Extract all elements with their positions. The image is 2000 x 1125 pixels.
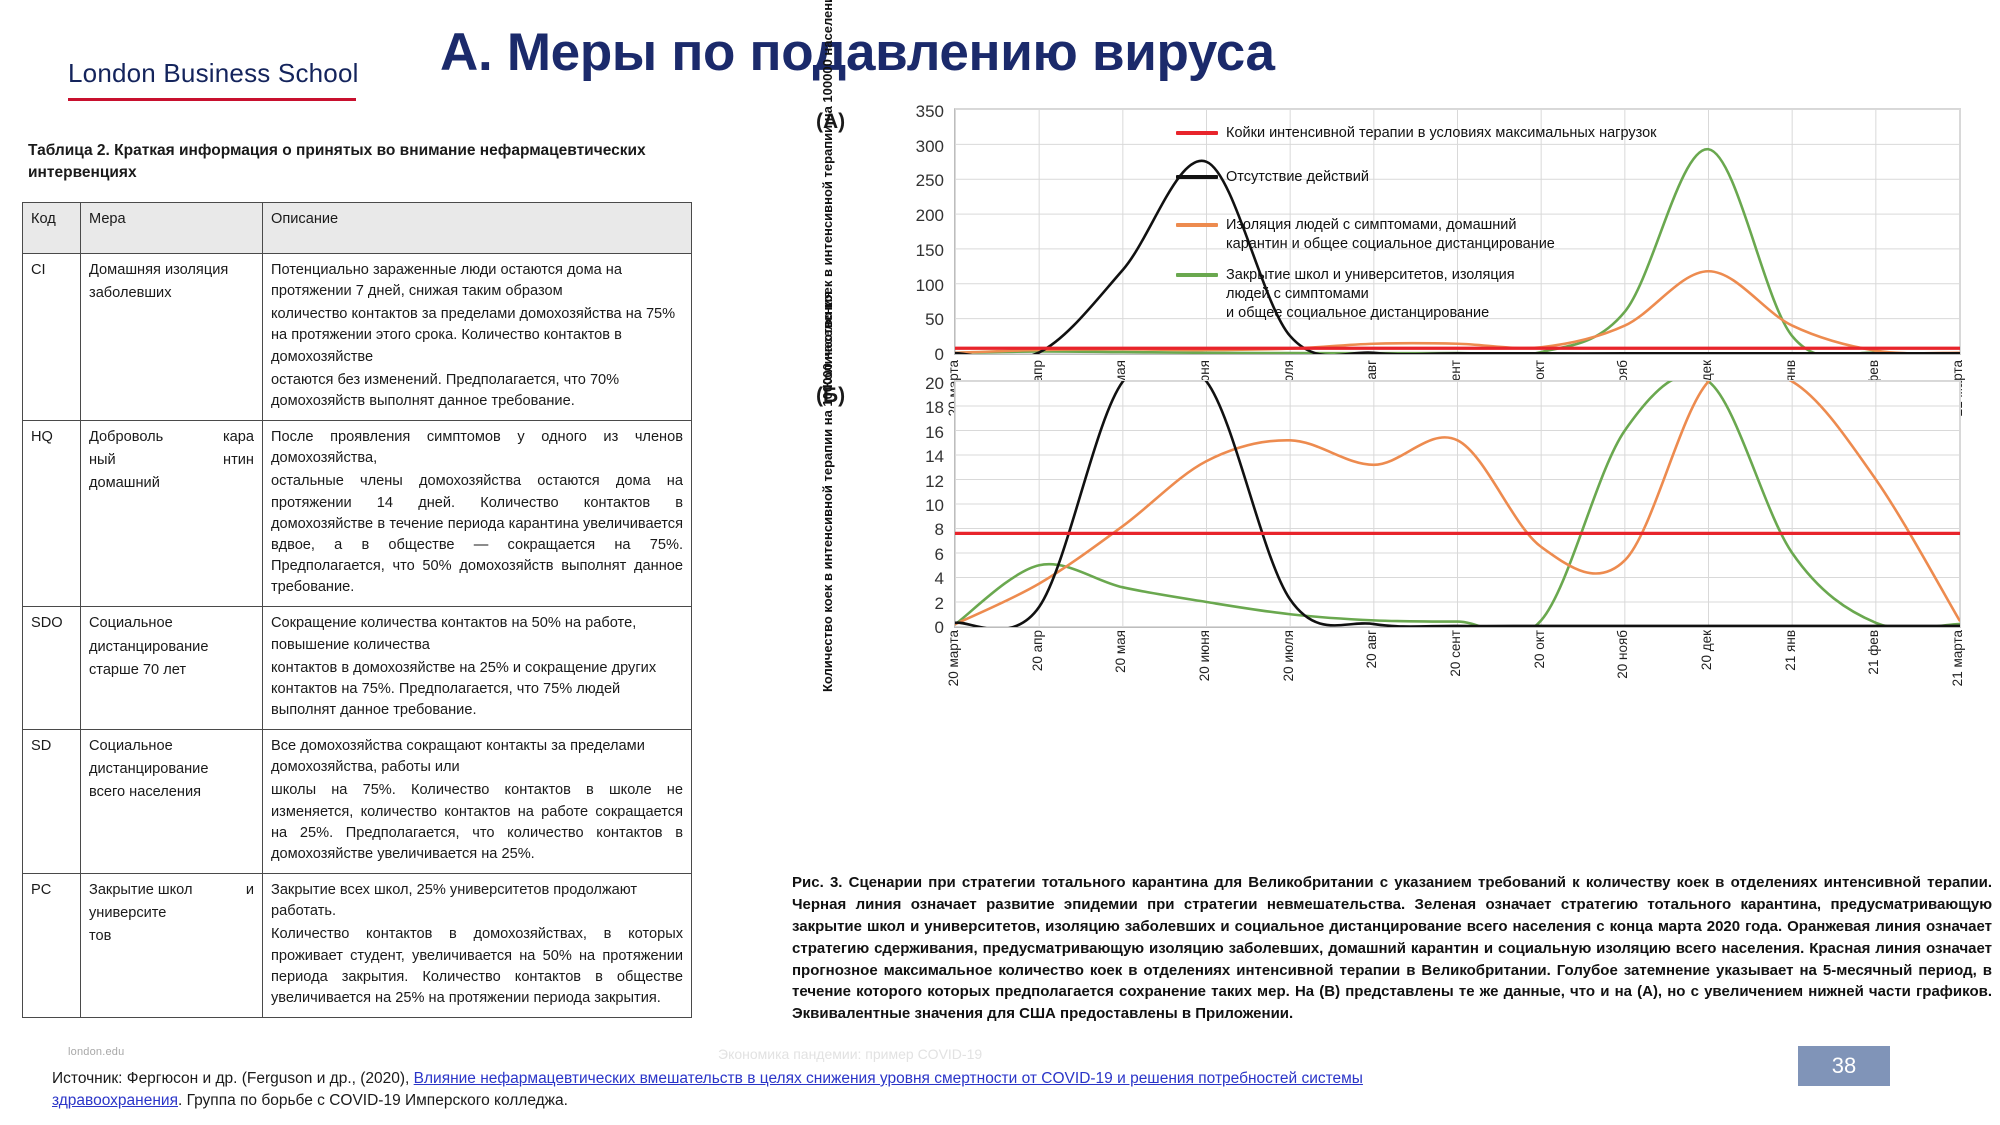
measure-line: ный нтин [89,450,254,471]
legend-item-mitigation[interactable]: Изоляция людей с симптомами, домашний ка… [1176,216,1555,254]
legend-label: Койки интенсивной терапии в условиях мак… [1226,124,1656,143]
panel-b-x-ticks: 20 марта20 апр20 мая20 июня20 июля20 авг… [954,628,1959,706]
y-tick-label: 18 [925,398,944,418]
description-paragraph: Потенциально зараженные люди остаются до… [271,260,683,302]
measure-word: Закрытие школ [89,880,193,901]
x-tick-label: 20 сент [1448,630,1463,677]
panel-b-plot [954,380,1961,628]
y-tick-label: 20 [925,374,944,394]
legend-swatch-orange [1176,223,1218,227]
figure-caption: Рис. 3. Сценарии при стратегии тотальног… [792,872,1992,1025]
cell-description: После проявления симптомов у одного из ч… [263,421,692,607]
measure-word: нтин [223,450,254,471]
description-paragraph: количество контактов за пределами домохо… [271,304,683,367]
table-header-measure: Мера [81,203,263,254]
measure-line: Доброволь кара [89,427,254,448]
legend-item-suppression[interactable]: Закрытие школ и университетов, изоляция … [1176,266,1515,323]
source-suffix: . Группа по борьбе с COVID-19 Имперского… [178,1092,568,1109]
y-tick-label: 50 [925,310,944,330]
legend-label: Отсутствие действий [1226,168,1369,187]
table-row: HQ Доброволь кара ный нтин домашний Посл… [23,421,692,607]
cell-description: Закрытие всех школ, 25% университетов пр… [263,874,692,1018]
y-tick-label: 0 [935,345,944,365]
x-tick-label: 20 мая [1113,630,1128,673]
y-tick-label: 8 [935,520,944,540]
y-tick-label: 200 [916,206,944,226]
lbs-logo-text: London Business School [68,58,358,89]
y-tick-label: 0 [935,618,944,638]
source-prefix: Источник: Фергюсон и др. (Ferguson и др.… [52,1070,414,1087]
legend-label: Закрытие школ и университетов, изоляция … [1226,266,1515,323]
measure-line: Закрытие школ и [89,880,254,901]
measure-line: дистанцирование [89,637,254,658]
description-paragraph: Количество контактов в домохозяйствах, в… [271,924,683,1009]
description-paragraph: Закрытие всех школ, 25% университетов пр… [271,880,683,922]
measure-line: Домашняя изоляция [89,260,254,281]
table-row: PC Закрытие школ и университе тов Закрыт… [23,874,692,1018]
y-tick-label: 6 [935,545,944,565]
description-paragraph: школы на 75%. Количество контактов в шко… [271,780,683,865]
table-header-code: Код [23,203,81,254]
lbs-logo-rule [68,98,356,101]
table-body: CI Домашняя изоляция заболевших Потенциа… [23,254,692,1018]
page-number-badge: 38 [1798,1046,1890,1086]
table-row: SDO Социальное дистанцирование старше 70… [23,607,692,730]
y-tick-label: 10 [925,496,944,516]
page-title: A. Меры по подавлению вируса [440,22,1740,83]
description-paragraph: контактов в домохозяйстве на 25% и сокра… [271,658,683,721]
x-tick-label: 20 нояб [1615,630,1630,679]
x-tick-label: 21 фев [1866,630,1881,675]
cell-measure: Домашняя изоляция заболевших [81,254,263,421]
cell-description: Сокращение количества контактов на 50% н… [263,607,692,730]
footer-url: london.edu [68,1046,124,1058]
cell-measure: Социальное дистанцирование старше 70 лет [81,607,263,730]
measure-word: Доброволь [89,427,163,448]
measure-word: ный [89,450,116,471]
measure-line: Социальное [89,736,254,757]
description-paragraph: После проявления симптомов у одного из ч… [271,427,683,469]
y-tick-label: 250 [916,171,944,191]
x-tick-label: 20 июля [1281,630,1296,681]
measure-line: университе [89,903,254,924]
measure-line: всего населения [89,782,254,803]
legend-item-icu-capacity[interactable]: Койки интенсивной терапии в условиях мак… [1176,124,1656,143]
legend-item-do-nothing[interactable]: Отсутствие действий [1176,168,1369,187]
cell-measure: Закрытие школ и университе тов [81,874,263,1018]
y-tick-label: 150 [916,241,944,261]
x-tick-label: 21 янв [1783,630,1798,671]
lbs-logo: London Business School [68,58,358,101]
cell-code: SDO [23,607,81,730]
cell-description: Потенциально зараженные люди остаются до… [263,254,692,421]
panel-a-legend: Койки интенсивной терапии в условиях мак… [1176,124,1936,324]
cell-measure: Доброволь кара ный нтин домашний [81,421,263,607]
cell-code: HQ [23,421,81,607]
panel-b-y-ticks: 20181614121086420 [862,384,944,630]
legend-swatch-green [1176,273,1218,277]
measure-line: дистанцирование [89,759,254,780]
measure-line: заболевших [89,283,254,304]
measure-word: кара [223,427,254,448]
y-tick-label: 300 [916,137,944,157]
interventions-table: Код Мера Описание CI Домашняя изоляция з… [22,202,692,1018]
description-paragraph: остаются без изменений. Предполагается, … [271,370,683,412]
y-tick-label: 350 [916,102,944,122]
y-tick-label: 2 [935,594,944,614]
measure-line: домашний [89,473,254,494]
x-tick-label: 20 июня [1197,630,1212,681]
measure-word: и [246,880,254,901]
y-tick-label: 100 [916,276,944,296]
legend-swatch-red [1176,131,1218,135]
measure-line: старше 70 лет [89,660,254,681]
panel-a-y-ticks: 350300250200150100500 [862,112,944,357]
cell-measure: Социальное дистанцирование всего населен… [81,730,263,874]
table-row: CI Домашняя изоляция заболевших Потенциа… [23,254,692,421]
footer-watermark: Экономика пандемии: пример COVID-19 [718,1046,982,1062]
x-tick-label: 20 марта [946,630,961,686]
y-tick-label: 16 [925,423,944,443]
y-tick-label: 4 [935,569,944,589]
figure-panel: (А) Количество коек в интенсивной терапи… [810,112,1990,872]
cell-description: Все домохозяйства сокращают контакты за … [263,730,692,874]
table-header-description: Описание [263,203,692,254]
panel-b-y-axis-title: Количество коек в интенсивной терапии на… [820,442,854,692]
x-tick-label: 20 авг [1364,630,1379,668]
y-tick-label: 12 [925,472,944,492]
cell-code: SD [23,730,81,874]
table-caption: Таблица 2. Краткая информация о принятых… [28,140,668,185]
plot-b-svg [955,381,1960,627]
x-tick-label: 20 окт [1532,630,1547,669]
measure-line: тов [89,926,254,947]
legend-label: Изоляция людей с симптомами, домашний ка… [1226,216,1555,254]
measure-line: Социальное [89,613,254,634]
cell-code: CI [23,254,81,421]
y-tick-label: 14 [925,447,944,467]
x-tick-label: 20 дек [1699,630,1714,670]
description-paragraph: Все домохозяйства сокращают контакты за … [271,736,683,778]
source-note: Источник: Фергюсон и др. (Ferguson и др.… [52,1068,1482,1112]
description-paragraph: остальные члены домохозяйства остаются д… [271,471,683,598]
table-row: SD Социальное дистанцирование всего насе… [23,730,692,874]
x-tick-label: 21 марта [1950,630,1965,686]
x-tick-label: 20 апр [1030,630,1045,671]
description-paragraph: Сокращение количества контактов на 50% н… [271,613,683,655]
table-header-row: Код Мера Описание [23,203,692,254]
cell-code: PC [23,874,81,1018]
legend-swatch-black [1176,175,1218,179]
